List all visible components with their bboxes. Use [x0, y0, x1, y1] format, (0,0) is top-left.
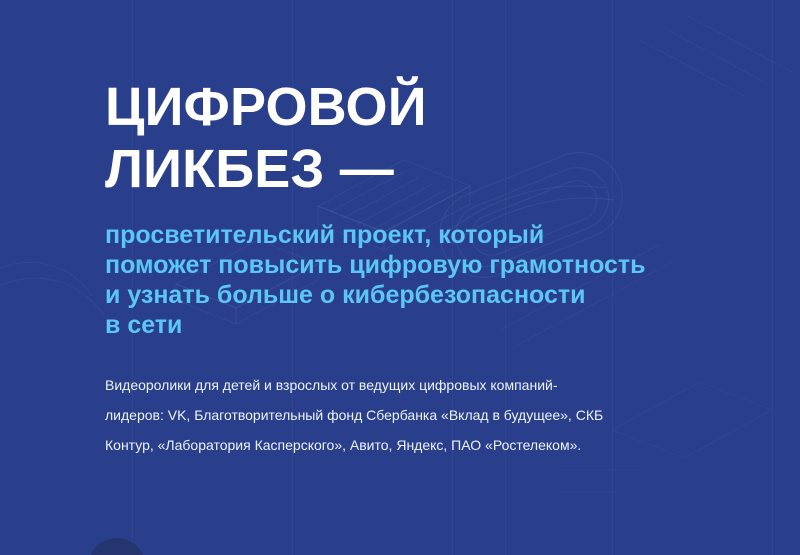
bottom-left-circle-decor — [88, 538, 146, 555]
hero-content: ЦИФРОВОЙ ЛИКБЕЗ — просветительский проек… — [105, 0, 745, 460]
hero-banner: ЦИФРОВОЙ ЛИКБЕЗ — просветительский проек… — [0, 0, 800, 555]
hero-title: ЦИФРОВОЙ ЛИКБЕЗ — — [105, 0, 745, 200]
decor-seam — [772, 0, 773, 555]
hero-description: Видеоролики для детей и взрослых от веду… — [105, 340, 745, 460]
hero-subtitle: просветительский проект, который поможет… — [105, 200, 745, 340]
